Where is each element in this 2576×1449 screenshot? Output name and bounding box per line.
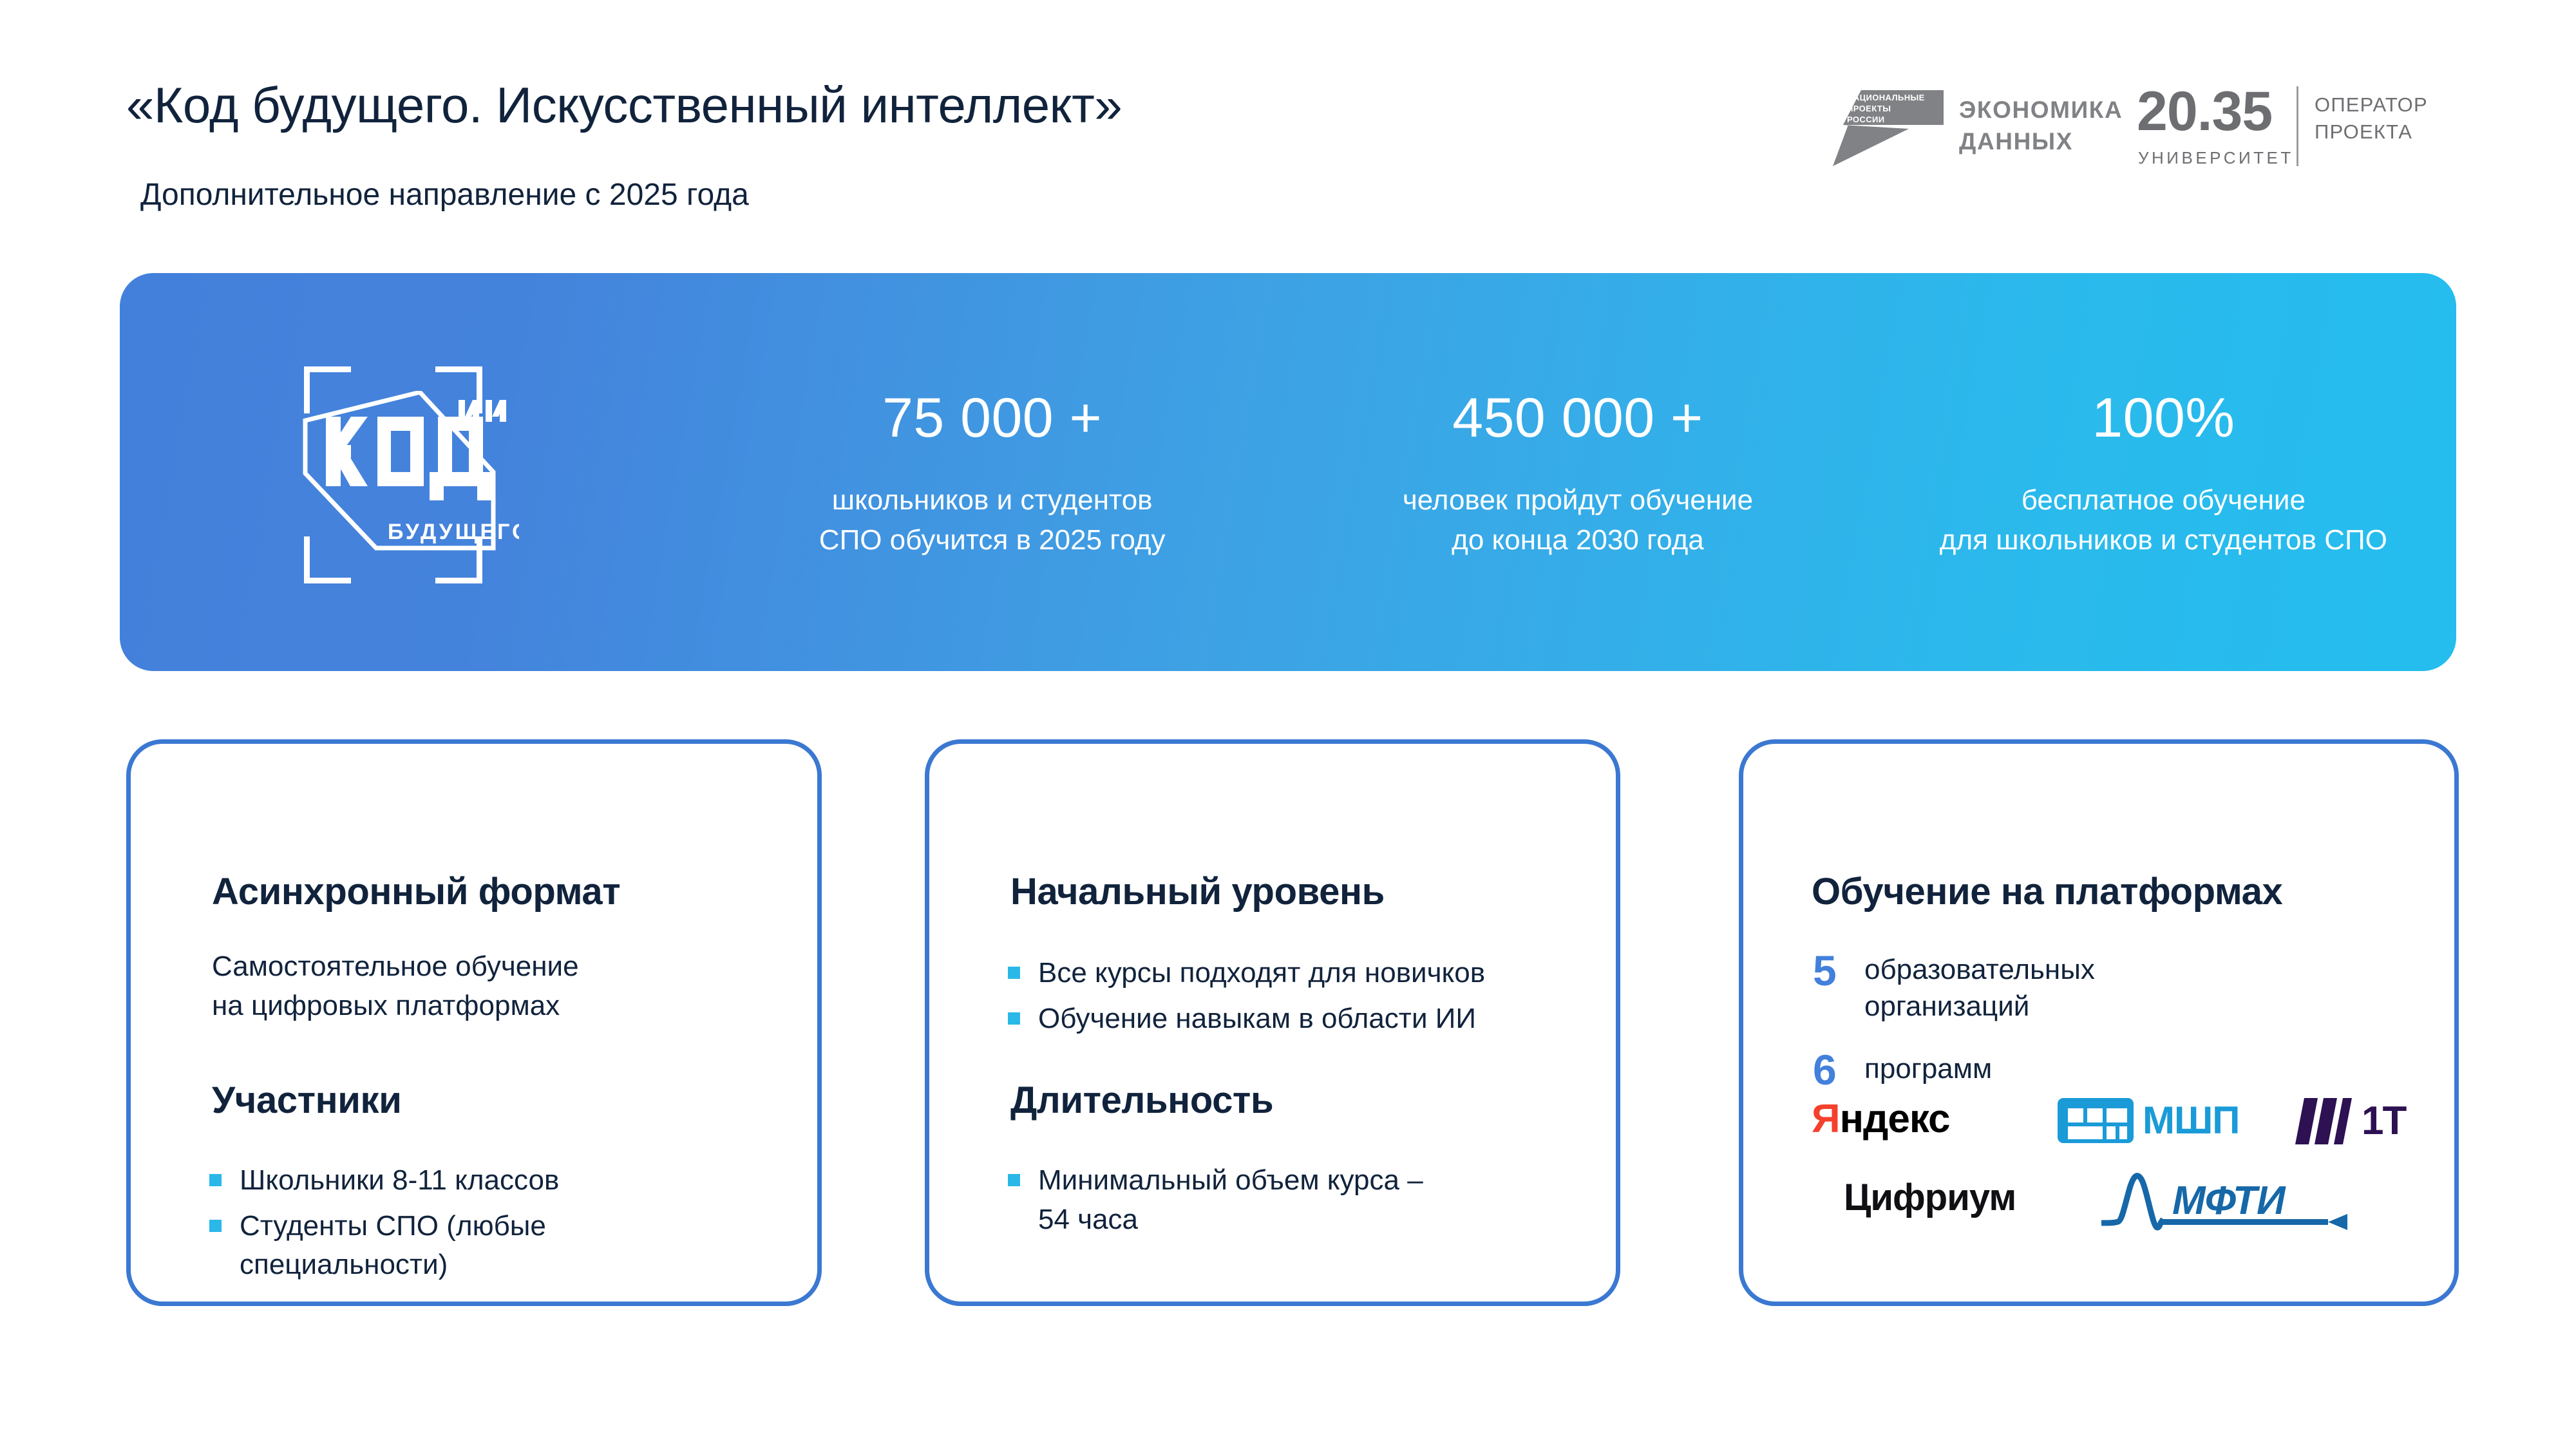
stat-item-3: 100% бесплатное обучение для школьников … xyxy=(1871,273,2456,671)
mshp-logo: МШП xyxy=(2058,1098,2239,1143)
svg-text:МФТИ: МФТИ xyxy=(2172,1179,2286,1223)
list-item: Обучение навыкам в области ИИ xyxy=(1008,999,1590,1039)
np-text-line1: ЭКОНОМИКА xyxy=(1959,94,2123,126)
list-item: Все курсы подходят для новичков xyxy=(1008,954,1590,993)
card2-bullet-1: Все курсы подходят для новичков xyxy=(1038,954,1485,993)
university-2035-number: 20.35 xyxy=(2137,84,2272,139)
economy-of-data-wordmark: ЭКОНОМИКА ДАННЫХ xyxy=(1959,94,2123,157)
card2-heading-duration: Длительность xyxy=(1010,1079,1273,1122)
mshp-wordmark: МШП xyxy=(2143,1101,2239,1140)
stat-3-label: бесплатное обучение для школьников и сту… xyxy=(1940,480,2387,561)
info-cards: Асинхронный формат Самостоятельное обуче… xyxy=(0,739,2576,1319)
card1-heading-participants: Участники xyxy=(212,1079,401,1122)
bullet-square-icon xyxy=(1008,967,1020,979)
card3-heading-platforms: Обучение на платформах xyxy=(1812,870,2282,913)
card1-bullet-1: Школьники 8-11 классов xyxy=(240,1161,559,1200)
card2-bullet-3: Минимальный объем курса – 54 часа xyxy=(1038,1161,1423,1239)
operator-line2: ПРОЕКТА xyxy=(2315,118,2428,146)
stat-3-number: 100% xyxy=(2092,390,2235,446)
mipt-logo: МФТИ xyxy=(2099,1168,2356,1245)
card-asynchronous-format: Асинхронный формат Самостоятельное обуче… xyxy=(126,739,822,1306)
svg-text:БУДУЩЕГО: БУДУЩЕГО xyxy=(388,520,519,544)
card3-count-2-number: 6 xyxy=(1813,1048,1850,1092)
page-title: «Код будущего. Искусственный интеллект» xyxy=(126,76,1122,135)
platform-logos: Яндекс МШП xyxy=(1805,1097,2423,1258)
logo-divider xyxy=(2297,86,2298,166)
card3-count-programs: 6 программ xyxy=(1813,1048,1992,1092)
stat-1-label: школьников и студентов СПО обучится в 20… xyxy=(819,480,1166,561)
national-projects-logo: НАЦИОНАЛЬНЫЕ ПРОЕКТЫ РОССИИ ЭКОНОМИКА ДА… xyxy=(1833,90,2103,166)
yandex-ya-glyph: Я xyxy=(1812,1097,1840,1141)
page-subtitle: Дополнительное направление с 2025 года xyxy=(140,177,749,213)
np-text-line2: ДАННЫХ xyxy=(1959,126,2123,157)
stat-item-1: 75 000 + школьников и студентов СПО обуч… xyxy=(699,273,1285,671)
mshp-mark-icon xyxy=(2058,1098,2134,1143)
card1-bullet-list: Школьники 8-11 классов Студенты СПО (люб… xyxy=(209,1161,791,1291)
list-item: Студенты СПО (любые специальности) xyxy=(209,1207,791,1285)
kod-logo-mark: БУДУЩЕГО xyxy=(300,391,519,560)
card3-count-1-number: 5 xyxy=(1813,949,1850,993)
card3-count-organizations: 5 образовательных организаций xyxy=(1813,949,2095,1025)
university-2035-logo: 20.35 УНИВЕРСИТЕТ ОПЕРАТОР ПРОЕКТА xyxy=(2137,84,2407,174)
stat-2-number: 450 000 + xyxy=(1452,390,1703,446)
card1-bullet-2: Студенты СПО (любые специальности) xyxy=(240,1207,546,1285)
banner-stats: 75 000 + школьников и студентов СПО обуч… xyxy=(699,273,2456,671)
yandex-rest-glyph: ндекс xyxy=(1840,1097,1950,1141)
card1-paragraph: Самостоятельное обучение на цифровых пла… xyxy=(212,947,579,1025)
card2-bullet-list-1: Все курсы подходят для новичков Обучение… xyxy=(1008,954,1590,1045)
card1-heading-format: Асинхронный формат xyxy=(212,870,620,913)
stat-item-2: 450 000 + человек пройдут обучение до ко… xyxy=(1285,273,1870,671)
list-item: Школьники 8-11 классов xyxy=(209,1161,791,1200)
bullet-square-icon xyxy=(209,1174,222,1186)
stats-banner: БУДУЩЕГО 75 000 + школьников и студентов… xyxy=(120,273,2456,671)
onet-wordmark: 1Т xyxy=(2362,1101,2405,1141)
university-2035-word: УНИВЕРСИТЕТ xyxy=(2138,148,2294,168)
national-projects-flag-icon: НАЦИОНАЛЬНЫЕ ПРОЕКТЫ РОССИИ xyxy=(1833,90,1944,166)
onet-mark-icon xyxy=(2300,1098,2354,1144)
card-beginner-level: Начальный уровень Все курсы подходят для… xyxy=(925,739,1620,1306)
cifrium-logo: Цифриум xyxy=(1844,1179,2016,1217)
project-operator-label: ОПЕРАТОР ПРОЕКТА xyxy=(2315,91,2428,146)
kod-budushchego-logo: БУДУЩЕГО xyxy=(184,366,538,579)
yandex-logo: Яндекс xyxy=(1812,1099,1950,1139)
operator-line1: ОПЕРАТОР xyxy=(2315,91,2428,118)
stat-2-label: человек пройдут обучение до конца 2030 г… xyxy=(1403,480,1753,561)
page-header: «Код будущего. Искусственный интеллект» … xyxy=(0,0,2576,245)
card2-heading-level: Начальный уровень xyxy=(1010,870,1385,913)
list-item: Минимальный объем курса – 54 часа xyxy=(1008,1161,1590,1239)
onet-logo: 1Т xyxy=(2300,1098,2405,1144)
bullet-square-icon xyxy=(1008,1174,1020,1186)
bullet-square-icon xyxy=(209,1220,222,1232)
svg-text:НАЦИОНАЛЬНЫЕ: НАЦИОНАЛЬНЫЕ xyxy=(1847,93,1925,102)
svg-text:РОССИИ: РОССИИ xyxy=(1847,115,1884,124)
card3-count-1-text: образовательных организаций xyxy=(1864,951,2095,1025)
card2-bullet-2: Обучение навыкам в области ИИ xyxy=(1038,999,1476,1039)
svg-text:ПРОЕКТЫ: ПРОЕКТЫ xyxy=(1847,104,1891,113)
card-learning-platforms: Обучение на платформах 5 образовательных… xyxy=(1739,739,2459,1306)
card3-count-2-text: программ xyxy=(1864,1050,1992,1087)
stat-1-number: 75 000 + xyxy=(882,390,1102,446)
card2-bullet-list-2: Минимальный объем курса – 54 часа xyxy=(1008,1161,1590,1245)
bullet-square-icon xyxy=(1008,1012,1020,1025)
